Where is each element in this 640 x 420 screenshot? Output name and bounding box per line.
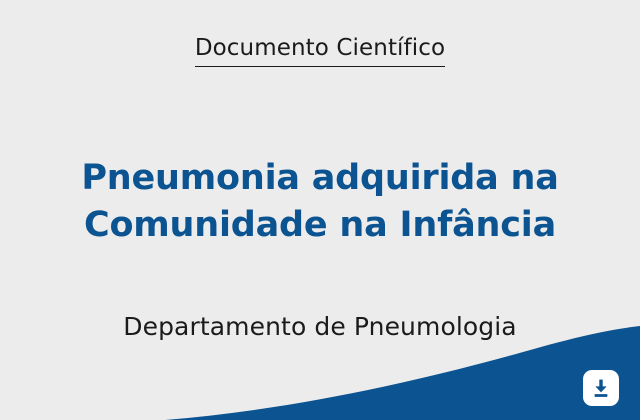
page-title: Pneumonia adquirida na Comunidade na Inf… bbox=[0, 155, 640, 249]
document-cover-card: Documento Científico Pneumonia adquirida… bbox=[0, 0, 640, 420]
download-button[interactable] bbox=[583, 370, 619, 406]
download-icon bbox=[590, 377, 612, 399]
eyebrow-container: Documento Científico bbox=[0, 34, 640, 67]
document-kicker-label: Documento Científico bbox=[195, 34, 445, 67]
department-label: Departamento de Pneumologia bbox=[0, 311, 640, 343]
